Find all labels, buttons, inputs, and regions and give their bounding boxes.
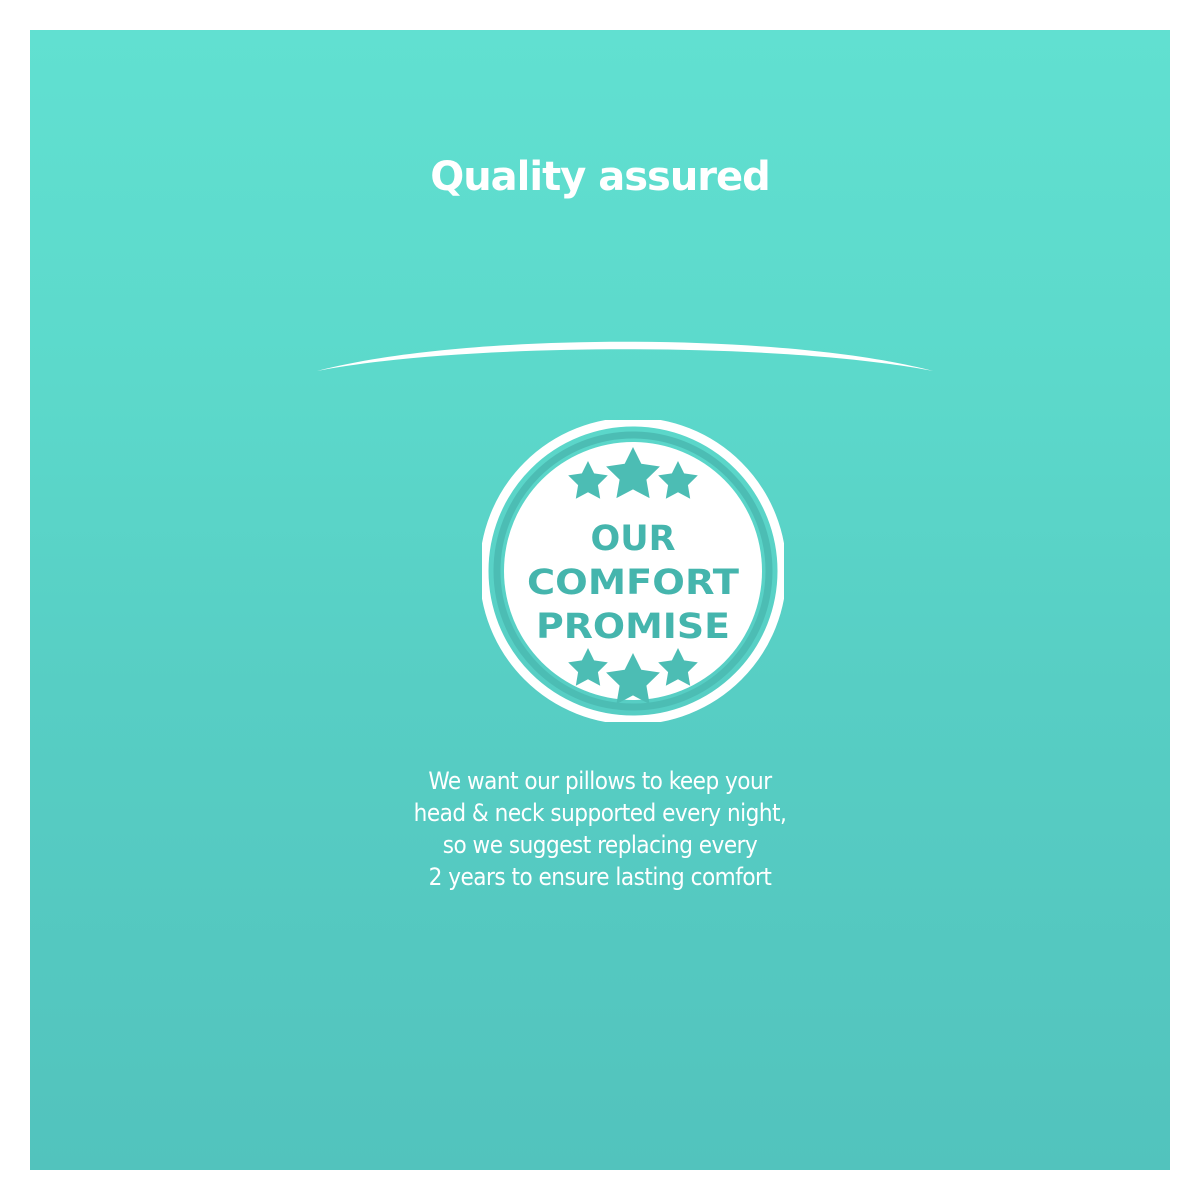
- teal-panel: Quality assured OUR COMFORT: [30, 30, 1170, 1170]
- badge-line-2: COMFORT: [527, 563, 739, 603]
- badge-seal-icon: OUR COMFORT PROMISE: [482, 420, 784, 722]
- copy-line: so we suggest replacing every: [30, 829, 1170, 861]
- copy-line: 2 years to ensure lasting comfort: [30, 861, 1170, 893]
- promo-card: Quality assured OUR COMFORT: [0, 0, 1200, 1200]
- copy-line: head & neck supported every night,: [30, 797, 1170, 829]
- badge-line-3: PROMISE: [536, 607, 730, 647]
- badge-line-1: OUR: [590, 519, 675, 559]
- copy-line: We want our pillows to keep your: [30, 765, 1170, 797]
- body-copy: We want our pillows to keep your head & …: [30, 765, 1170, 893]
- swoosh-icon: [315, 318, 935, 380]
- comfort-promise-badge: OUR COMFORT PROMISE: [482, 420, 784, 722]
- page-title: Quality assured: [30, 157, 1170, 197]
- swoosh-divider: [315, 318, 935, 380]
